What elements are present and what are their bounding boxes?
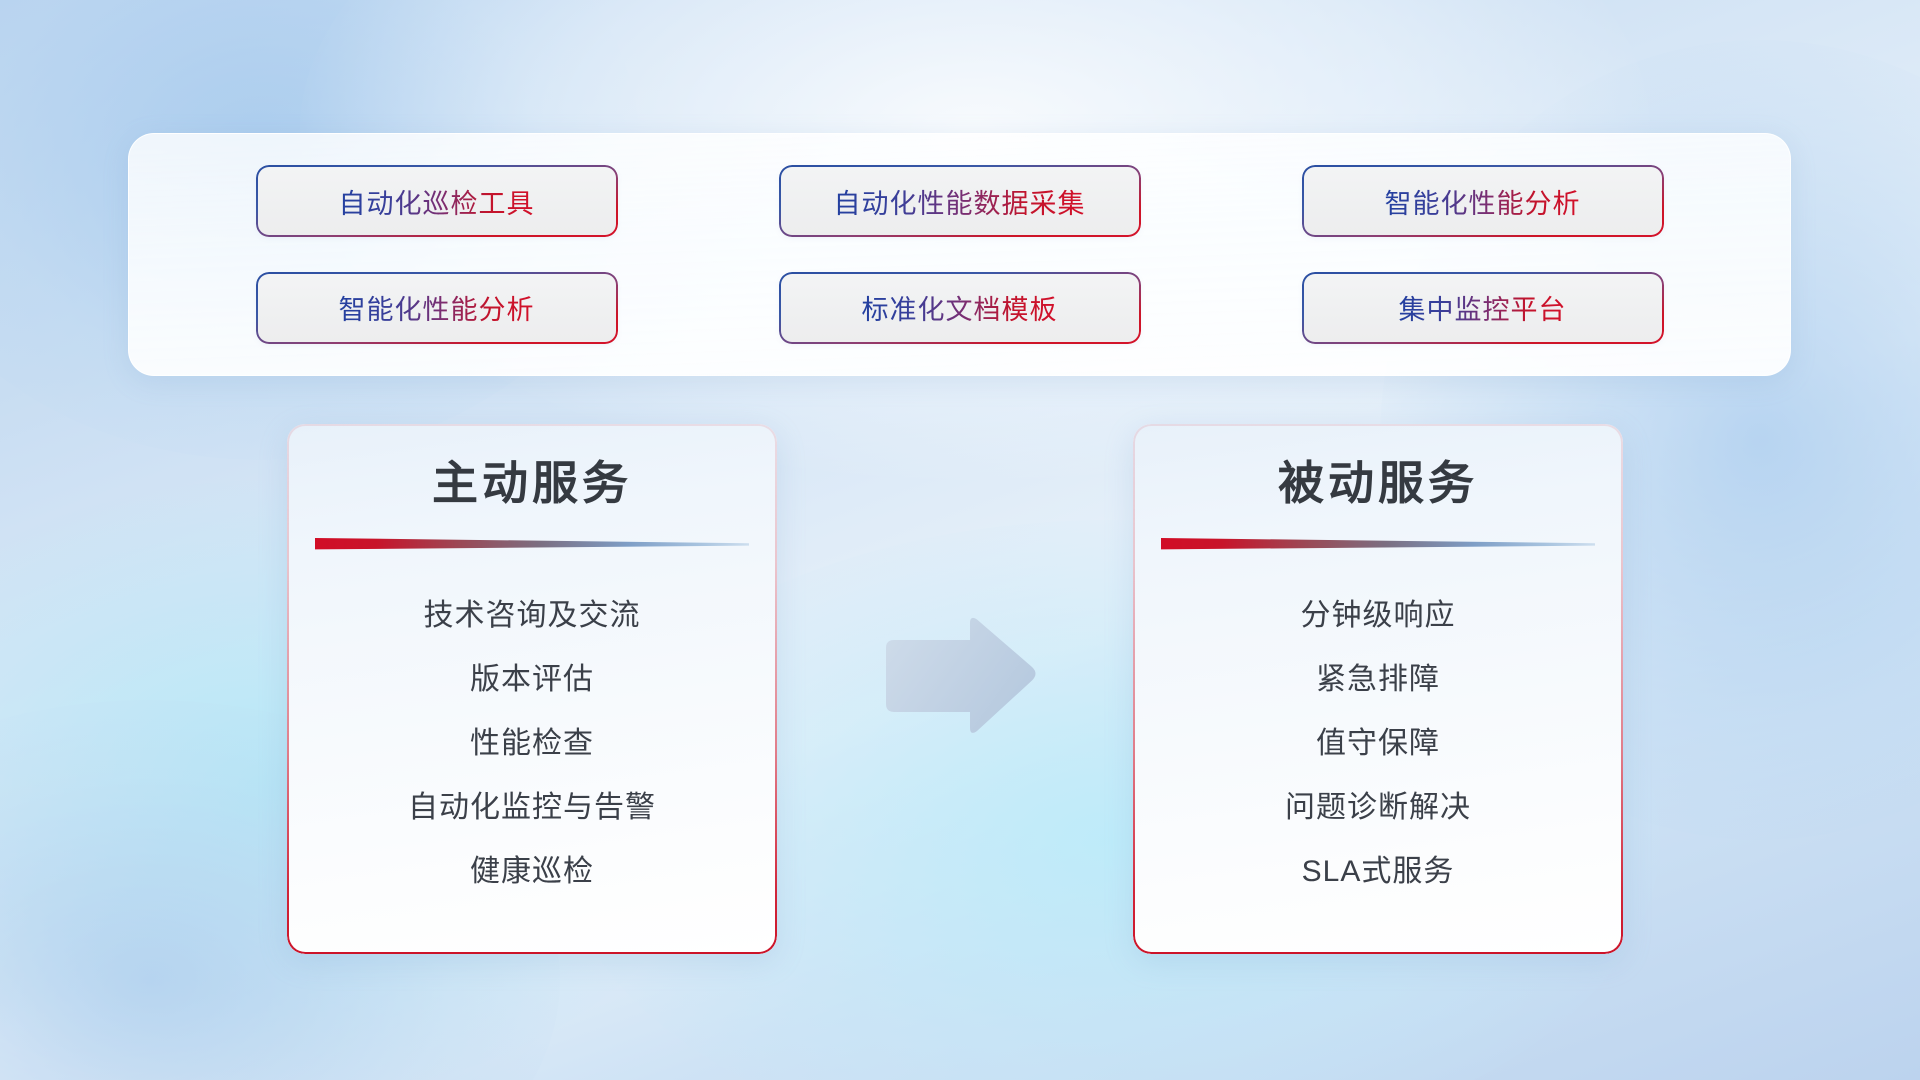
service-card-title: 主动服务 <box>287 458 777 509</box>
service-list-item: 问题诊断解决 <box>1133 776 1623 840</box>
slide-canvas: 自动化巡检工具 自动化性能数据采集 智能化性能分析 智能化性能分析 标准化文档模… <box>0 0 1920 1080</box>
capability-pill-label: 标准化文档模板 <box>862 288 1058 327</box>
service-list-item: 性能检查 <box>287 712 777 776</box>
capability-pill-intelligent-perf-analysis[interactable]: 智能化性能分析 <box>1304 167 1662 235</box>
capability-pill-auto-perf-data-collection[interactable]: 自动化性能数据采集 <box>781 167 1139 235</box>
capability-pill-label: 自动化巡检工具 <box>339 182 535 221</box>
service-item-list: 技术咨询及交流 版本评估 性能检查 自动化监控与告警 健康巡检 <box>287 584 777 904</box>
service-list-item: 版本评估 <box>287 648 777 712</box>
capability-pill-auto-inspection-tool[interactable]: 自动化巡检工具 <box>258 167 616 235</box>
title-divider-gradient <box>315 537 749 550</box>
capability-pill-intelligent-perf-analysis-2[interactable]: 智能化性能分析 <box>258 274 616 342</box>
service-card-proactive[interactable]: 主动服务 <box>287 424 777 954</box>
service-list-item: 自动化监控与告警 <box>287 776 777 840</box>
service-list-item: 分钟级响应 <box>1133 584 1623 648</box>
capability-pill-standard-doc-template[interactable]: 标准化文档模板 <box>781 274 1139 342</box>
capability-pill-centralized-monitoring[interactable]: 集中监控平台 <box>1304 274 1662 342</box>
capability-panel: 自动化巡检工具 自动化性能数据采集 智能化性能分析 智能化性能分析 标准化文档模… <box>128 133 1791 376</box>
service-list-item: SLA式服务 <box>1133 840 1623 904</box>
service-list-item: 紧急排障 <box>1133 648 1623 712</box>
service-card-title: 被动服务 <box>1133 458 1623 509</box>
title-divider-gradient <box>1161 537 1595 550</box>
capability-pill-label: 智能化性能分析 <box>1385 182 1581 221</box>
service-list-item: 健康巡检 <box>287 840 777 904</box>
capability-pill-label: 自动化性能数据采集 <box>834 182 1086 221</box>
service-list-item: 值守保障 <box>1133 712 1623 776</box>
arrow-right-icon <box>876 615 1038 737</box>
service-list-item: 技术咨询及交流 <box>287 584 777 648</box>
service-item-list: 分钟级响应 紧急排障 值守保障 问题诊断解决 SLA式服务 <box>1133 584 1623 904</box>
service-card-reactive[interactable]: 被动服务 <box>1133 424 1623 954</box>
capability-pill-label: 集中监控平台 <box>1399 288 1567 327</box>
capability-pill-label: 智能化性能分析 <box>339 288 535 327</box>
